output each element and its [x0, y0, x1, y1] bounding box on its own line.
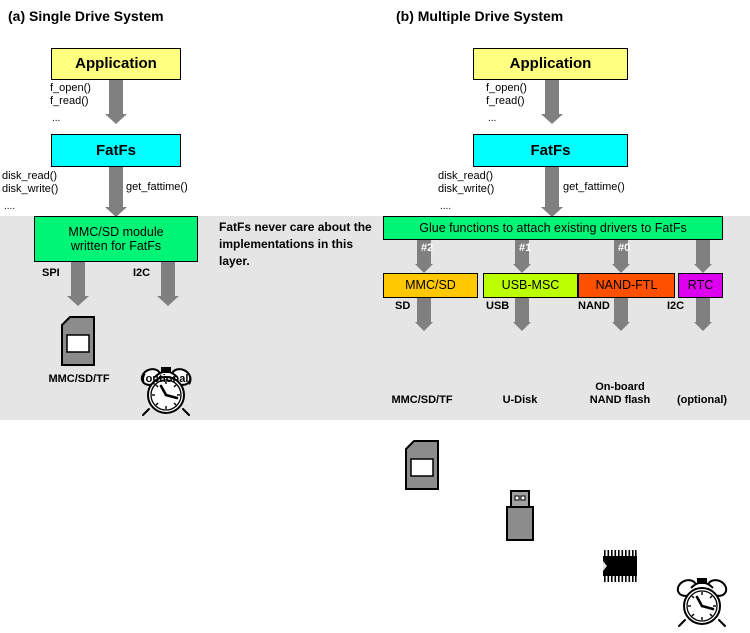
panel-b-interface-label-i2c: I2C: [667, 300, 684, 312]
panel-a-device-caption-sd: MMC/SD/TF: [44, 373, 114, 386]
panel-b-driver-label-usbmsc: USB-MSC: [502, 278, 560, 292]
panel-b-application-label: Application: [510, 55, 592, 72]
panel-b-drive-number-1: #1: [519, 242, 531, 254]
panel-b-device-caption-sd: MMC/SD/TF: [387, 394, 457, 407]
panel-a-interface-label-spi: SPI: [42, 267, 60, 279]
panel-b-device-caption-usb: U-Disk: [485, 394, 555, 407]
panel-a-get-fattime-label: get_fattime(): [126, 181, 188, 194]
panel-b-diskio-label-2: ....: [440, 200, 451, 213]
panel-a-arrow-fatfs-to-module: [105, 167, 127, 217]
panel-b-interface-label-sd: SD: [395, 300, 410, 312]
panel-a-arrow-app-to-fatfs: [105, 80, 127, 124]
panel-a-arrow-i2c: [157, 262, 179, 306]
panel-a-mmcsd-module-line2: written for FatFs: [71, 239, 161, 253]
panel-b-drive-number-0: #2: [421, 242, 433, 254]
panel-b-api-label-0: f_open(): [486, 82, 527, 95]
nand-chip-icon: [596, 548, 644, 584]
panel-a-device-caption-rtc: (optional): [132, 373, 202, 386]
panel-b-interface-label-nand: NAND: [578, 300, 610, 312]
panel-b-application-box: Application: [473, 48, 628, 80]
panel-b-api-label-1: f_read(): [486, 95, 525, 108]
panel-b-api-label-2: ...: [488, 112, 496, 125]
sd-card-icon: [405, 440, 439, 490]
panel-a-note: FatFs never care about the implementatio…: [219, 219, 379, 270]
panel-b-drive-number-2: #0: [618, 242, 630, 254]
sd-card-icon: [61, 316, 95, 366]
panel-b-driver-label-rtc: RTC: [688, 278, 713, 292]
panel-b-driver-box-nandftl: NAND-FTL: [578, 273, 675, 298]
panel-a-diskio-label-0: disk_read(): [2, 170, 57, 183]
panel-b-driver-label-mmcsd: MMC/SD: [405, 278, 456, 292]
panel-b-driver-label-nandftl: NAND-FTL: [596, 278, 658, 292]
panel-a-fatfs-label: FatFs: [96, 142, 136, 159]
panel-b-get-fattime-label: get_fattime(): [563, 181, 625, 194]
panel-b-device-caption-nand-line1: On-board: [585, 381, 655, 394]
panel-a-application-label: Application: [75, 55, 157, 72]
panel-b-arrow-fatfs-to-glue: [541, 167, 563, 217]
panel-b-arrow-glue-to-rtc: [694, 240, 712, 273]
panel-b-arrow-nandftl-to-device: [612, 298, 630, 331]
panel-b-driver-box-mmcsd: MMC/SD: [383, 273, 478, 298]
panel-b-arrow-usbmsc-to-device: [513, 298, 531, 331]
panel-b-glue-box: Glue functions to attach existing driver…: [383, 216, 723, 240]
panel-a-diskio-label-1: disk_write(): [2, 183, 58, 196]
panel-a-fatfs-box: FatFs: [51, 134, 181, 167]
panel-b-driver-box-usbmsc: USB-MSC: [483, 273, 578, 298]
panel-a-mmcsd-module-box: MMC/SD module written for FatFs: [34, 216, 198, 262]
panel-a-api-label-0: f_open(): [50, 82, 91, 95]
panel-b-fatfs-box: FatFs: [473, 134, 628, 167]
panel-b-arrow-mmcsd-to-device: [415, 298, 433, 331]
panel-b-device-caption-rtc: (optional): [667, 394, 737, 407]
panel-b-arrow-app-to-fatfs: [541, 80, 563, 124]
panel-b-title: (b) Multiple Drive System: [396, 8, 563, 24]
panel-a-arrow-spi: [67, 262, 89, 306]
panel-a-interface-label-i2c: I2C: [133, 267, 150, 279]
panel-b-fatfs-label: FatFs: [530, 142, 570, 159]
usb-stick-icon: [504, 490, 536, 542]
panel-b-device-caption-nand-line2: NAND flash: [585, 394, 655, 407]
panel-a-api-label-1: f_read(): [50, 95, 89, 108]
panel-b-diskio-label-0: disk_read(): [438, 170, 493, 183]
panel-a-title: (a) Single Drive System: [8, 8, 164, 24]
panel-b-driver-box-rtc: RTC: [678, 273, 723, 298]
panel-b-diskio-label-1: disk_write(): [438, 183, 494, 196]
alarm-clock-icon: [675, 576, 729, 628]
panel-b-interface-label-usb: USB: [486, 300, 509, 312]
panel-a-application-box: Application: [51, 48, 181, 80]
panel-a-diskio-label-2: ....: [4, 200, 15, 213]
panel-a-mmcsd-module-line1: MMC/SD module: [68, 225, 163, 239]
panel-b-glue-label: Glue functions to attach existing driver…: [419, 221, 686, 235]
panel-a-api-label-2: ...: [52, 112, 60, 125]
panel-b-arrow-rtc-to-device: [694, 298, 712, 331]
